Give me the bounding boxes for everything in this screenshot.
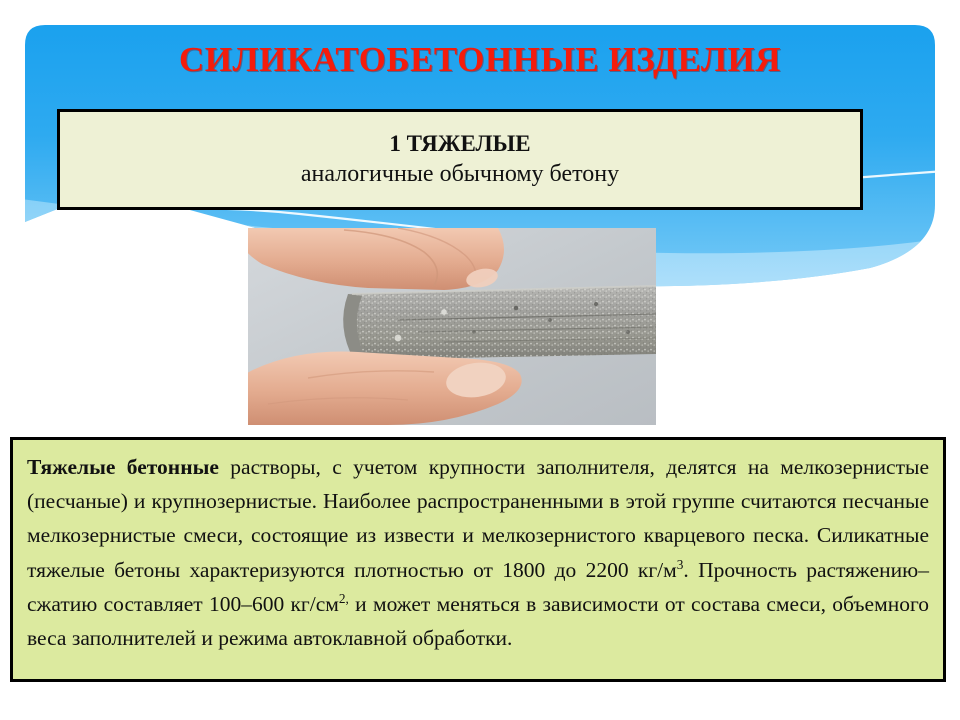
- concrete-slab: [343, 286, 656, 360]
- body-text-box: Тяжелые бетонные растворы, с учетом круп…: [10, 437, 946, 682]
- subtitle-box: 1 ТЯЖЕЛЫЕ аналогичные обычному бетону: [57, 109, 863, 210]
- page-title: СИЛИКАТОБЕТОННЫЕ ИЗДЕЛИЯ: [25, 40, 935, 80]
- subtitle-description: аналогичные обычному бетону: [301, 161, 619, 188]
- photo-graphic: [248, 228, 656, 425]
- hand-holding-slab-photo: [248, 228, 656, 425]
- subtitle-heading: 1 ТЯЖЕЛЫЕ: [389, 131, 530, 157]
- body-paragraph: Тяжелые бетонные растворы, с учетом круп…: [27, 450, 929, 655]
